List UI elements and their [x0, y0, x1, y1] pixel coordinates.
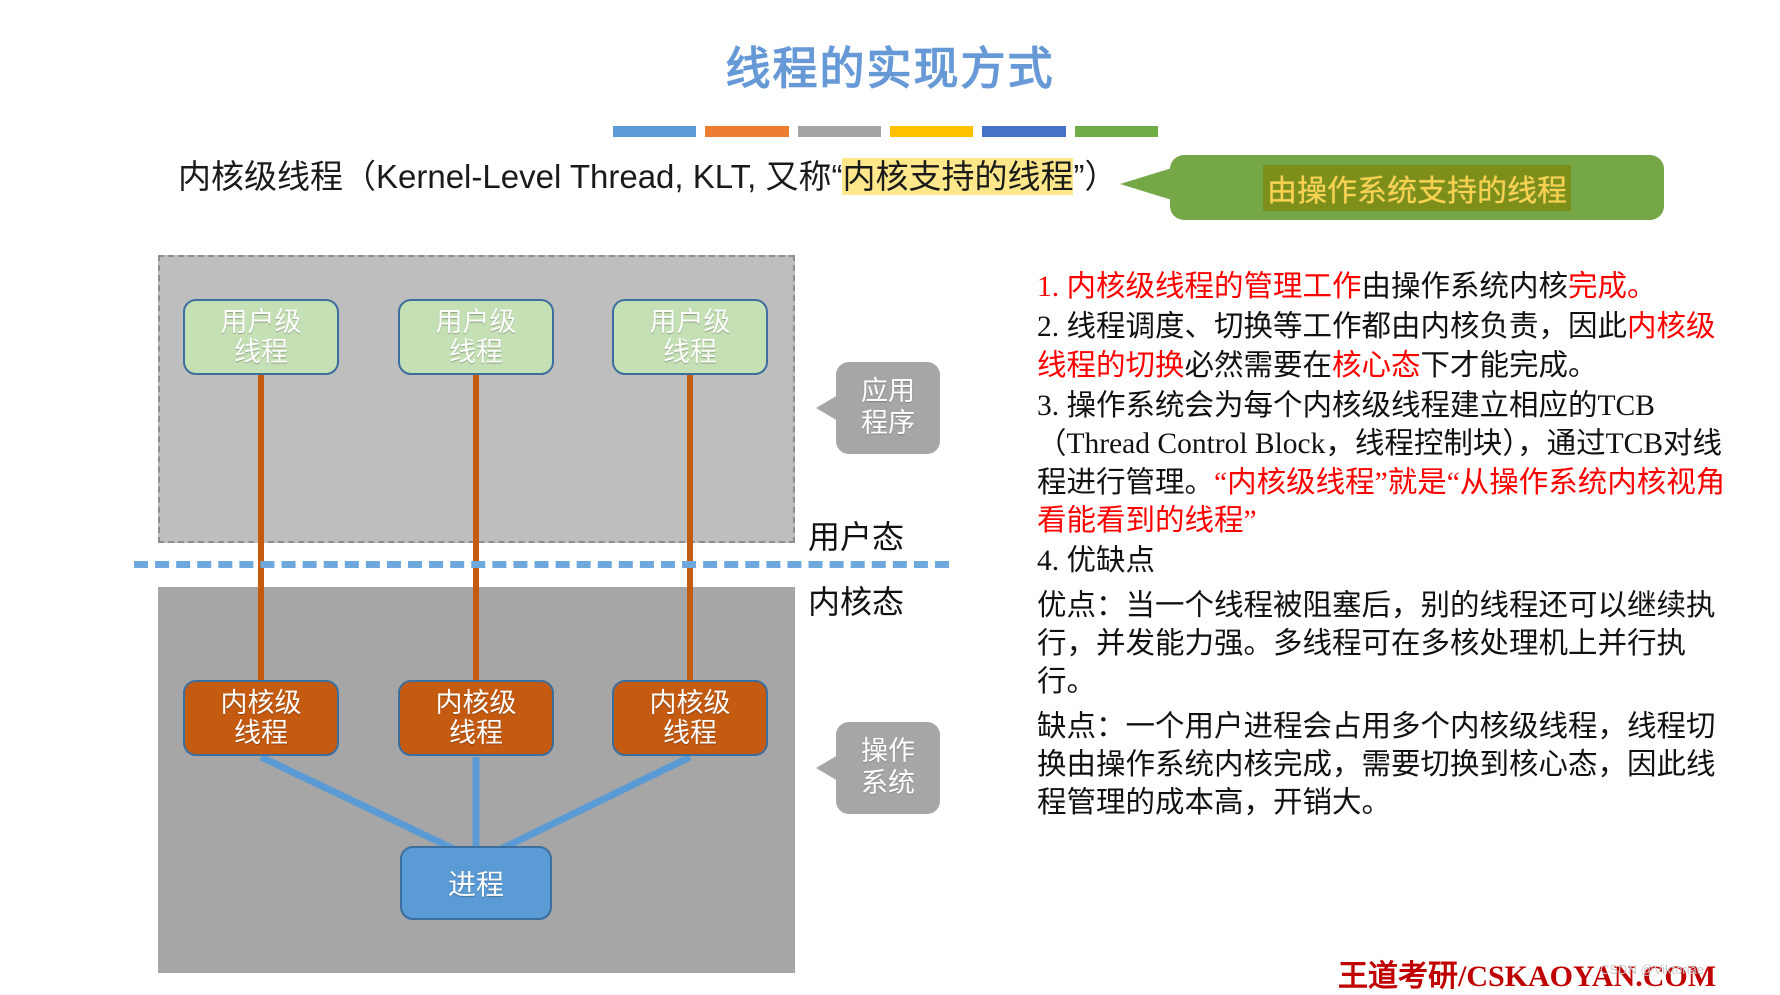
watermark-text: CSDN @Viktoriae [1600, 962, 1704, 977]
page-title: 线程的实现方式 [0, 32, 1780, 97]
item4-number: 4. [1037, 545, 1067, 577]
item1-part-c: 完成。 [1568, 271, 1657, 303]
app-callout-line1: 应用 [861, 376, 915, 408]
explanation-item-1: 1. 内核级线程的管理工作由操作系统内核完成。 [1037, 268, 1727, 306]
app-callout-tail-icon [816, 395, 838, 421]
os-callout-tail-icon [816, 755, 838, 781]
subtitle-suffix: ”） [1073, 158, 1117, 195]
user-mode-label: 用户态 [808, 512, 904, 558]
explanation-item-2: 2. 线程调度、切换等工作都由内核负责，因此内核级线程的切换必然需要在核心态下才… [1037, 308, 1727, 385]
kernel-thread-box-2[interactable]: 内核级 线程 [398, 680, 554, 756]
kernel-mode-label: 内核态 [808, 577, 904, 623]
process-label: 进程 [448, 863, 504, 903]
subtitle-prefix: 内核级线程（Kernel-Level Thread, KLT, 又称“ [178, 158, 842, 195]
kernel-thread-line1: 内核级 [221, 688, 302, 718]
item1-part-a: 内核级线程的管理工作 [1067, 271, 1362, 303]
item2-part-d: 核心态 [1332, 350, 1421, 382]
user-thread-box-3[interactable]: 用户级 线程 [612, 299, 768, 375]
user-kernel-divider [134, 561, 949, 568]
item2-part-a: 线程调度、切换等工作都由内核负责，因此 [1067, 311, 1628, 343]
user-thread-line2: 线程 [663, 337, 717, 367]
rule-segment-5 [982, 126, 1065, 137]
item2-number: 2. [1037, 311, 1067, 343]
process-box[interactable]: 进程 [400, 846, 552, 920]
green-callout-tail-icon [1120, 168, 1172, 200]
title-accent-rule [613, 126, 1158, 137]
rule-segment-6 [1075, 126, 1158, 137]
user-thread-line1: 用户级 [221, 307, 302, 337]
kernel-thread-line1: 内核级 [436, 688, 517, 718]
item1-number: 1. [1037, 271, 1067, 303]
green-callout: 由操作系统支持的线程 [1170, 155, 1664, 220]
explanation-text: 1. 内核级线程的管理工作由操作系统内核完成。 2. 线程调度、切换等工作都由内… [1037, 268, 1727, 825]
user-thread-line2: 线程 [234, 337, 288, 367]
kernel-thread-line2: 线程 [663, 718, 717, 748]
rule-segment-1 [613, 126, 696, 137]
item3-number: 3. [1037, 390, 1067, 422]
rule-segment-2 [705, 126, 788, 137]
user-thread-line1: 用户级 [436, 307, 517, 337]
item2-part-c: 必然需要在 [1185, 350, 1333, 382]
explanation-cons: 缺点：一个用户进程会占用多个内核级线程，线程切换由操作系统内核完成，需要切换到核… [1037, 708, 1727, 823]
os-callout-line1: 操作 [861, 736, 915, 768]
subtitle-highlight: 内核支持的线程 [842, 158, 1073, 195]
kernel-thread-line2: 线程 [449, 718, 503, 748]
kernel-thread-line2: 线程 [234, 718, 288, 748]
explanation-pros: 优点：当一个线程被阻塞后，别的线程还可以继续执行，并发能力强。多线程可在多核处理… [1037, 587, 1727, 702]
app-callout: 应用 程序 [836, 362, 940, 454]
item1-part-b: 由操作系统内核 [1362, 271, 1569, 303]
explanation-item-4: 4. 优缺点 [1037, 542, 1727, 580]
user-thread-line2: 线程 [449, 337, 503, 367]
os-callout: 操作 系统 [836, 722, 940, 814]
os-callout-line2: 系统 [861, 768, 915, 800]
kernel-thread-line1: 内核级 [650, 688, 731, 718]
item4-part-a: 优缺点 [1067, 545, 1156, 577]
kernel-thread-box-3[interactable]: 内核级 线程 [612, 680, 768, 756]
user-thread-box-1[interactable]: 用户级 线程 [183, 299, 339, 375]
user-thread-box-2[interactable]: 用户级 线程 [398, 299, 554, 375]
item2-part-e: 下才能完成。 [1421, 350, 1598, 382]
subtitle: 内核级线程（Kernel-Level Thread, KLT, 又称“内核支持的… [178, 150, 1117, 198]
kernel-thread-box-1[interactable]: 内核级 线程 [183, 680, 339, 756]
rule-segment-4 [890, 126, 973, 137]
user-thread-line1: 用户级 [650, 307, 731, 337]
explanation-item-3: 3. 操作系统会为每个内核级线程建立相应的TCB（Thread Control … [1037, 387, 1727, 540]
app-callout-line2: 程序 [861, 408, 915, 440]
slide-canvas: 线程的实现方式 内核级线程（Kernel-Level Thread, KLT, … [0, 0, 1780, 994]
green-callout-label: 由操作系统支持的线程 [1263, 165, 1571, 211]
rule-segment-3 [798, 126, 881, 137]
